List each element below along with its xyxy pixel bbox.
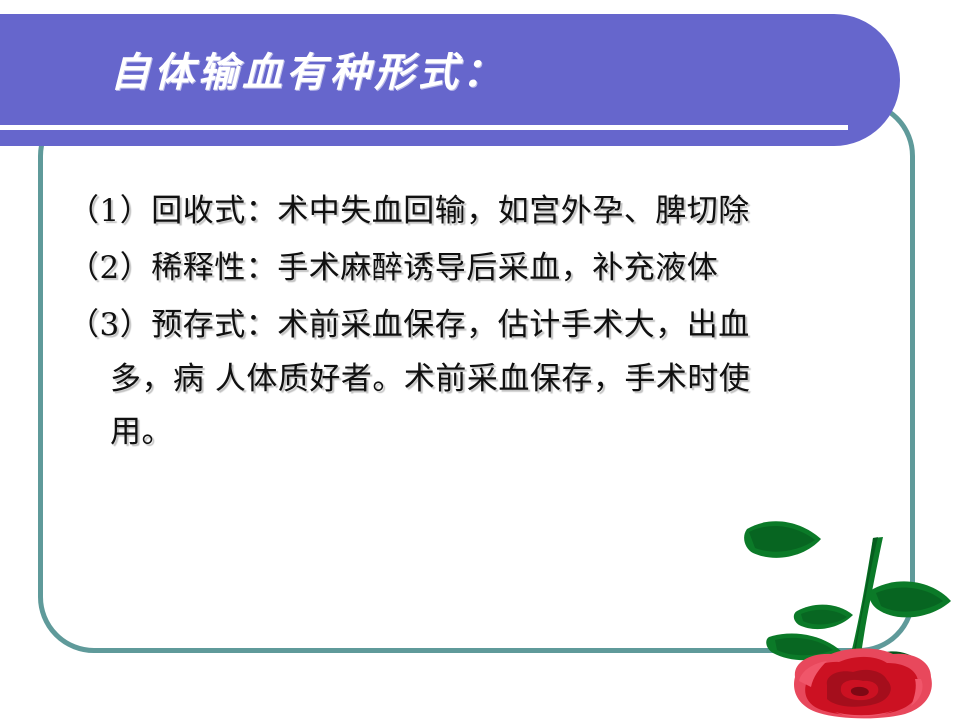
page-title: 自体输血有种形式：: [110, 52, 810, 94]
list-item: （3）预存式：术前采血保存，估计手术大，出血: [68, 300, 888, 350]
slide: 自体输血有种形式： （1）回收式：术中失血回输，如宫外孕、脾切除 （2）稀释性：…: [0, 0, 960, 720]
rose-icon: [735, 505, 960, 720]
body-content: （1）回收式：术中失血回输，如宫外孕、脾切除 （2）稀释性：手术麻醉诱导后采血，…: [68, 186, 888, 464]
list-item: （1）回收式：术中失血回输，如宫外孕、脾切除: [68, 186, 888, 236]
title-underline-rule: [0, 125, 848, 130]
list-item-continuation: 用。: [68, 407, 888, 457]
list-item-continuation: 多，病 人体质好者。术前采血保存，手术时使: [68, 354, 888, 404]
list-item: （2）稀释性：手术麻醉诱导后采血，补充液体: [68, 243, 888, 293]
